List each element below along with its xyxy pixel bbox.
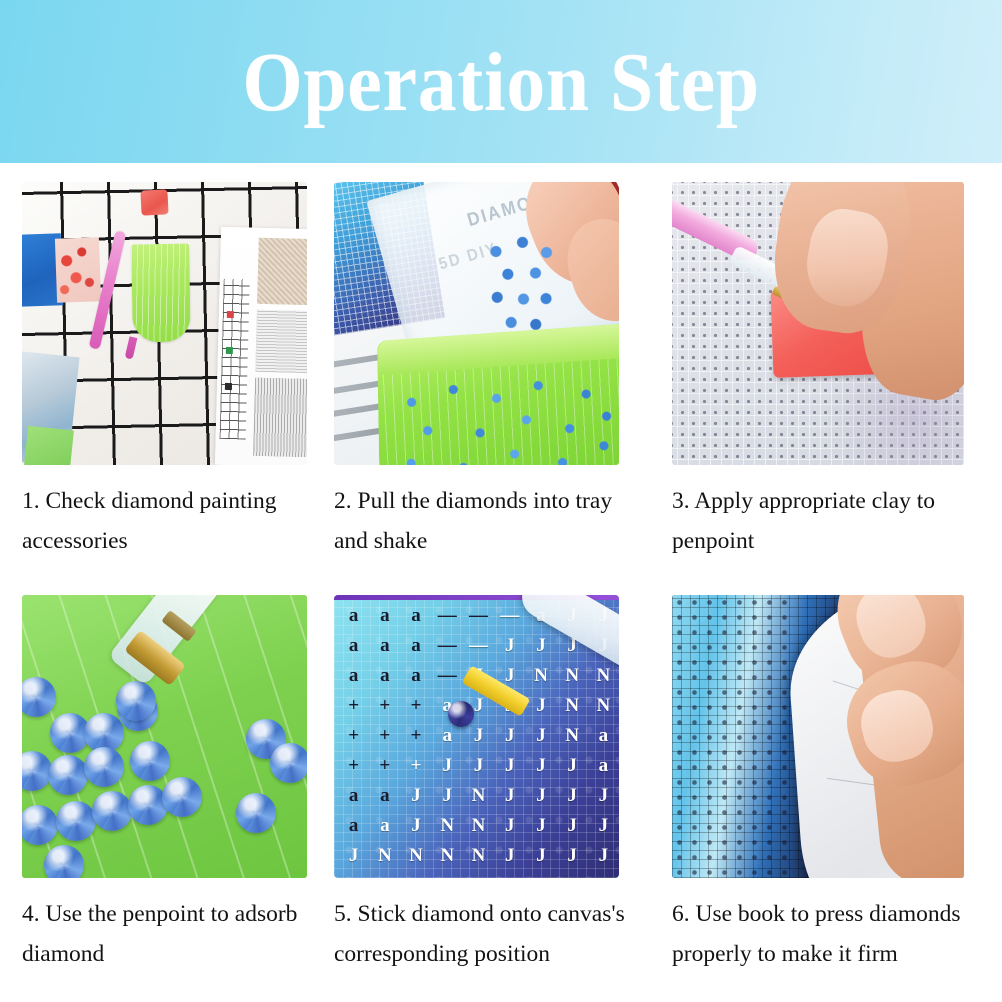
paper-image-top bbox=[257, 238, 307, 305]
canvas-symbol: a bbox=[338, 631, 369, 661]
canvas-symbol: J bbox=[494, 751, 525, 781]
red-diamond-bag bbox=[55, 237, 101, 302]
canvas-symbol: J bbox=[432, 781, 463, 811]
canvas-symbol: a bbox=[369, 661, 400, 691]
canvas-symbol: J bbox=[557, 781, 588, 811]
step-photo-5: aaa———aJJaaa——JJJJaaa—JJNNN+++aJJJNN+++a… bbox=[334, 595, 619, 878]
step-photo-2: DIAMOND 5D DIY bbox=[334, 182, 619, 465]
canvas-symbol: J bbox=[525, 871, 556, 878]
canvas-symbol: N bbox=[557, 691, 588, 721]
film-crease bbox=[827, 778, 879, 786]
color-chart-column bbox=[220, 279, 250, 440]
canvas-symbol: a bbox=[400, 631, 431, 661]
canvas-symbol: + bbox=[400, 751, 431, 781]
step-photo-6 bbox=[672, 595, 964, 878]
canvas-symbol: a bbox=[369, 781, 400, 811]
canvas-symbol: N bbox=[369, 841, 400, 871]
page-title: Operation Step bbox=[242, 41, 759, 125]
canvas-symbol: N bbox=[463, 811, 494, 841]
canvas-symbol: N bbox=[588, 661, 619, 691]
canvas-symbol: J bbox=[494, 811, 525, 841]
canvas-symbol: N bbox=[557, 721, 588, 751]
canvas-symbol: J bbox=[525, 691, 556, 721]
canvas-symbol: J bbox=[588, 841, 619, 871]
canvas-symbol: a bbox=[400, 601, 431, 631]
paper-image-middle bbox=[255, 310, 307, 373]
canvas-symbol: J bbox=[588, 781, 619, 811]
step-photo-3 bbox=[672, 182, 964, 465]
canvas-symbol: a bbox=[588, 721, 619, 751]
diamond-bead bbox=[92, 791, 132, 831]
canvas-symbol: J bbox=[588, 811, 619, 841]
steps-grid: 1. Check diamond painting accessories DI… bbox=[0, 163, 1002, 1002]
canvas-symbol: + bbox=[338, 691, 369, 721]
canvas-symbol: + bbox=[400, 691, 431, 721]
canvas-symbol: a bbox=[338, 781, 369, 811]
canvas-symbol: J bbox=[525, 631, 556, 661]
canvas-symbol: N bbox=[557, 661, 588, 691]
diamonds-in-tray bbox=[387, 370, 619, 465]
step-item-6: 6. Use book to press diamonds properly t… bbox=[672, 595, 984, 975]
canvas-symbol: a bbox=[400, 661, 431, 691]
clay-square bbox=[140, 189, 168, 215]
canvas-symbol: J bbox=[400, 811, 431, 841]
canvas-symbol: N bbox=[588, 871, 619, 878]
diamond-bead-on-tip bbox=[448, 701, 474, 727]
canvas-symbol: J bbox=[463, 871, 494, 878]
chart-swatch bbox=[226, 347, 233, 354]
canvas-symbol: N bbox=[369, 871, 400, 878]
canvas-symbol: N bbox=[432, 871, 463, 878]
operation-step-infographic: Operation Step bbox=[0, 0, 1002, 1002]
header-banner: Operation Step bbox=[0, 0, 1002, 163]
diamond-bead bbox=[270, 743, 307, 783]
canvas-symbol: a bbox=[369, 601, 400, 631]
canvas-symbol: N bbox=[400, 841, 431, 871]
canvas-symbol: J bbox=[463, 721, 494, 751]
canvas-symbol: J bbox=[494, 781, 525, 811]
canvas-symbol: + bbox=[338, 721, 369, 751]
canvas-symbol: — bbox=[494, 601, 525, 631]
step-item-4: 4. Use the penpoint to adsorb diamond bbox=[22, 595, 334, 975]
canvas-symbol: J bbox=[338, 841, 369, 871]
canvas-symbol: J bbox=[525, 781, 556, 811]
canvas-symbol: — bbox=[463, 631, 494, 661]
canvas-symbol: — bbox=[432, 601, 463, 631]
canvas-symbol: + bbox=[369, 691, 400, 721]
canvas-symbol: + bbox=[400, 721, 431, 751]
step-item-5: aaa———aJJaaa——JJJJaaa—JJNNN+++aJJJNN+++a… bbox=[334, 595, 646, 975]
green-tray bbox=[131, 244, 191, 343]
step-photo-1 bbox=[22, 182, 307, 465]
canvas-symbol: J bbox=[557, 751, 588, 781]
canvas-symbol: J bbox=[525, 751, 556, 781]
canvas-symbol: J bbox=[494, 721, 525, 751]
canvas-symbol: J bbox=[525, 841, 556, 871]
canvas-symbol: a bbox=[369, 631, 400, 661]
canvas-symbol: a bbox=[369, 811, 400, 841]
step-item-2: DIAMOND 5D DIY 2. Pull the diamonds into… bbox=[334, 182, 646, 562]
canvas-symbol: J bbox=[557, 871, 588, 878]
diamond-bead bbox=[56, 801, 96, 841]
step-caption-5: 5. Stick diamond onto canvas's correspon… bbox=[334, 894, 634, 975]
canvas-symbol: J bbox=[494, 631, 525, 661]
paper-image-bottom bbox=[253, 378, 307, 457]
diamond-bead bbox=[44, 845, 84, 878]
chart-swatch bbox=[225, 383, 232, 390]
spare-tray-small bbox=[24, 426, 74, 465]
step-caption-6: 6. Use book to press diamonds properly t… bbox=[672, 894, 984, 975]
canvas-symbol: a bbox=[588, 751, 619, 781]
diamond-bead bbox=[130, 741, 170, 781]
canvas-symbol: N bbox=[463, 841, 494, 871]
step-caption-1: 1. Check diamond painting accessories bbox=[22, 481, 322, 562]
chart-swatch bbox=[227, 311, 234, 318]
canvas-symbol: J bbox=[525, 721, 556, 751]
step-item-1: 1. Check diamond painting accessories bbox=[22, 182, 334, 562]
canvas-symbol: J bbox=[494, 871, 525, 878]
canvas-symbol: a bbox=[338, 601, 369, 631]
canvas-symbol: a bbox=[338, 661, 369, 691]
step-caption-4: 4. Use the penpoint to adsorb diamond bbox=[22, 894, 322, 975]
canvas-symbol: J bbox=[494, 841, 525, 871]
diamond-bead bbox=[48, 755, 88, 795]
canvas-symbol: + bbox=[338, 751, 369, 781]
canvas-symbol: N bbox=[432, 811, 463, 841]
diamond-bead-on-tip bbox=[116, 681, 156, 721]
diamond-bead bbox=[236, 793, 276, 833]
canvas-symbol: J bbox=[400, 781, 431, 811]
canvas-symbol: + bbox=[369, 721, 400, 751]
canvas-symbol: N bbox=[432, 841, 463, 871]
canvas-symbol: N bbox=[400, 871, 431, 878]
step-caption-2: 2. Pull the diamonds into tray and shake bbox=[334, 481, 634, 562]
canvas-symbol: — bbox=[463, 601, 494, 631]
symbol-column bbox=[672, 595, 792, 878]
diamond-bead bbox=[84, 747, 124, 787]
canvas-symbol: a bbox=[338, 811, 369, 841]
canvas-symbol: J bbox=[432, 751, 463, 781]
canvas-symbol: — bbox=[432, 661, 463, 691]
canvas-symbol: + bbox=[369, 751, 400, 781]
instruction-paper bbox=[215, 227, 307, 465]
step-item-3: 3. Apply appropriate clay to penpoint bbox=[672, 182, 984, 562]
canvas-symbol: J bbox=[338, 871, 369, 878]
canvas-symbol: N bbox=[463, 781, 494, 811]
canvas-symbol: N bbox=[525, 661, 556, 691]
diamond-bead bbox=[162, 777, 202, 817]
canvas-symbol: J bbox=[557, 841, 588, 871]
canvas-symbol: — bbox=[432, 631, 463, 661]
canvas-symbol: J bbox=[463, 751, 494, 781]
step-caption-3: 3. Apply appropriate clay to penpoint bbox=[672, 481, 984, 562]
canvas-symbol: J bbox=[525, 811, 556, 841]
canvas-symbol: N bbox=[588, 691, 619, 721]
step-photo-4 bbox=[22, 595, 307, 878]
canvas-symbol: J bbox=[557, 811, 588, 841]
